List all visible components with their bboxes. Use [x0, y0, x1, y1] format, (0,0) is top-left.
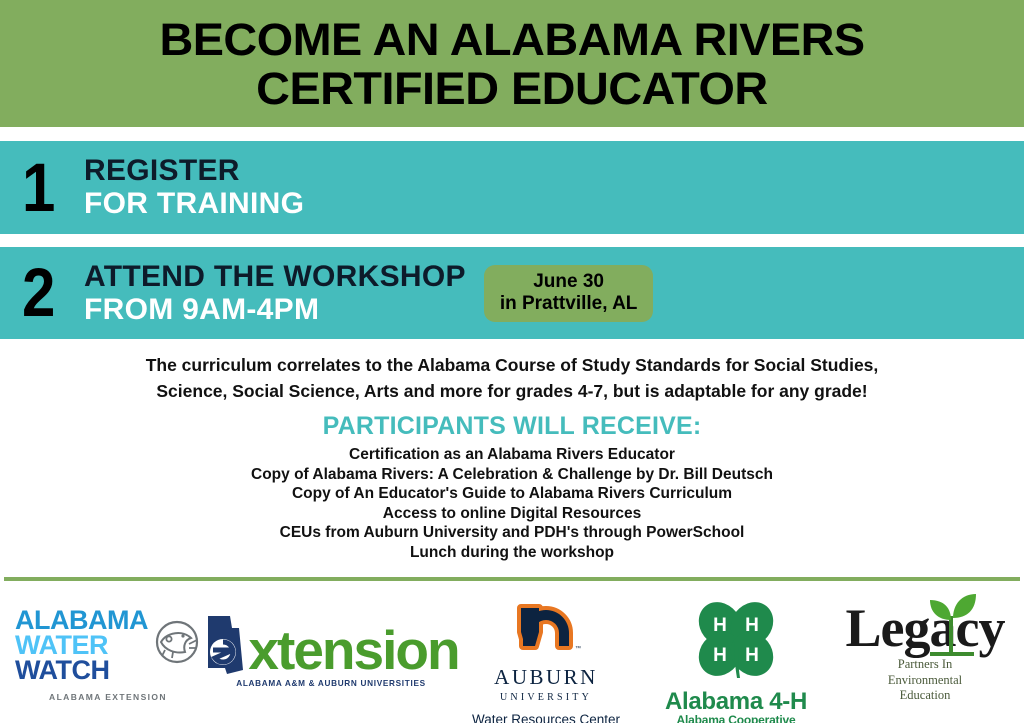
event-location: in Prattville, AL — [500, 293, 638, 315]
step-2-text: ATTEND THE WORKSHOP FROM 9AM-4PM — [84, 261, 466, 326]
svg-text:™: ™ — [575, 645, 581, 652]
list-item: Certification as an Alabama Rivers Educa… — [0, 445, 1024, 465]
curriculum-description-line1: The curriculum correlates to the Alabama… — [0, 352, 1024, 378]
legacy-sub3: Education — [900, 688, 951, 703]
four-leaf-clover-icon: H H H H — [690, 598, 782, 687]
participants-heading: PARTICIPANTS WILL RECEIVE: — [0, 412, 1024, 440]
water-watch-wordmark: ALABAMA WATER WATCH — [15, 608, 148, 683]
fish-circle-icon — [153, 618, 201, 671]
step-1-text: REGISTER FOR TRAINING — [84, 155, 304, 220]
list-item: Copy of An Educator's Guide to Alabama R… — [0, 484, 1024, 504]
step-2-subtitle: FROM 9AM-4PM — [84, 293, 466, 326]
list-item: CEUs from Auburn University and PDH's th… — [0, 523, 1024, 543]
water-watch-tagline: ALABAMA EXTENSION — [49, 692, 167, 702]
curriculum-description: The curriculum correlates to the Alabama… — [0, 352, 1024, 404]
step-2-bar: 2 ATTEND THE WORKSHOP FROM 9AM-4PM June … — [0, 247, 1024, 339]
legacy-sub2: Environmental — [888, 673, 962, 688]
logo-legacy: Legacy Partners In Environmental Educati… — [826, 588, 1024, 703]
extension-wordmark: xtension — [248, 623, 458, 678]
alabama-state-e-icon — [203, 612, 248, 678]
four-h-sub1: Alabama Cooperative — [677, 714, 796, 723]
auburn-unit: UNIVERSITY — [500, 692, 592, 703]
step-1-bar: 1 REGISTER FOR TRAINING — [0, 141, 1024, 234]
list-item: Copy of Alabama Rivers: A Celebration & … — [0, 465, 1024, 485]
water-watch-lockup: ALABAMA WATER WATCH — [15, 608, 201, 683]
logo-alabama-4h: H H H H Alabama 4-H Alabama Cooperative … — [646, 588, 826, 723]
water-watch-line3: WATCH — [15, 658, 109, 683]
logo-alabama-extension: xtension ALABAMA A&M & AUBURN UNIVERSITI… — [216, 588, 446, 688]
auburn-au-mark-icon: ™ — [509, 602, 583, 659]
logo-auburn-university: ™ AUBURN UNIVERSITY Water Resources Cent… — [446, 588, 646, 723]
svg-text:H: H — [745, 645, 759, 666]
step-1-subtitle: FOR TRAINING — [84, 187, 304, 220]
legacy-lockup: Legacy — [846, 600, 1005, 656]
poster-canvas: BECOME AN ALABAMA RIVERS CERTIFIED EDUCA… — [0, 0, 1024, 723]
benefits-list: Certification as an Alabama Rivers Educa… — [0, 445, 1024, 562]
step-1-number: 1 — [22, 153, 82, 221]
header-title-line2: CERTIFIED EDUCATOR — [256, 64, 768, 113]
sponsor-logo-row: ALABAMA WATER WATCH ALABAMA EXTENSION — [0, 588, 1024, 723]
curriculum-description-line2: Science, Social Science, Arts and more f… — [0, 378, 1024, 404]
step-1-title: REGISTER — [84, 155, 304, 187]
list-item: Lunch during the workshop — [0, 543, 1024, 563]
list-item: Access to online Digital Resources — [0, 504, 1024, 524]
svg-text:H: H — [713, 645, 727, 666]
header-title-line1: BECOME AN ALABAMA RIVERS — [159, 15, 864, 64]
four-h-title: Alabama 4-H — [665, 689, 807, 714]
event-date: June 30 — [533, 271, 604, 293]
sprout-icon — [922, 586, 982, 663]
poster-header: BECOME AN ALABAMA RIVERS CERTIFIED EDUCA… — [0, 0, 1024, 127]
step-2-title: ATTEND THE WORKSHOP — [84, 261, 466, 293]
svg-text:H: H — [745, 615, 759, 636]
section-divider — [4, 577, 1020, 581]
event-date-badge: June 30 in Prattville, AL — [484, 265, 654, 322]
step-2-number: 2 — [22, 259, 82, 327]
extension-lockup: xtension — [203, 612, 458, 678]
auburn-water-resources-center: Water Resources Center — [472, 712, 620, 723]
logo-alabama-water-watch: ALABAMA WATER WATCH ALABAMA EXTENSION — [0, 588, 216, 702]
auburn-name: AUBURN — [494, 665, 598, 690]
svg-text:H: H — [713, 615, 727, 636]
